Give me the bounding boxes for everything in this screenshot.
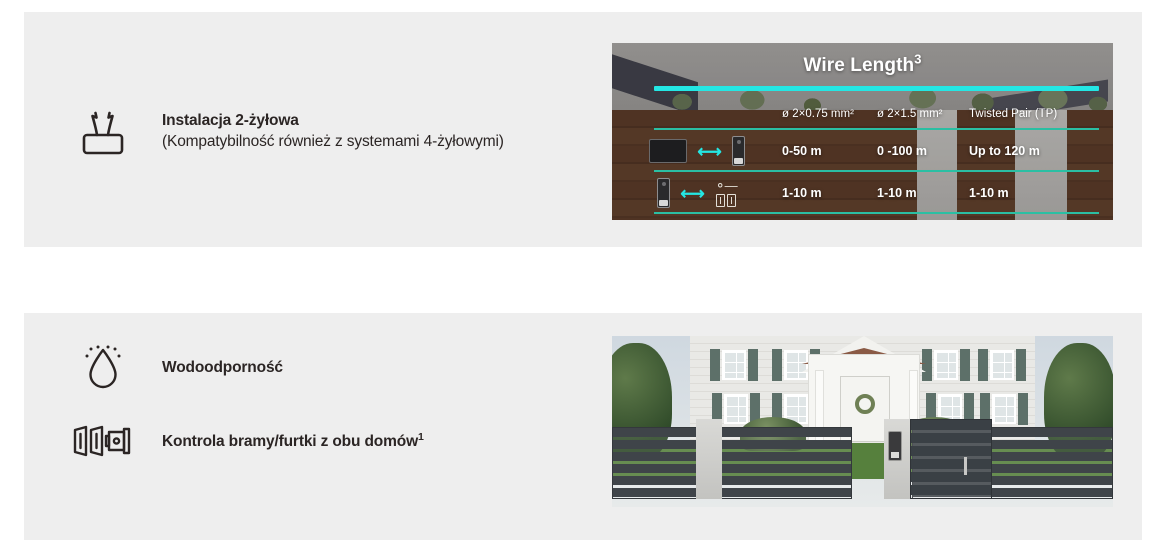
feature-title: Instalacja 2-żyłowa [162, 110, 504, 131]
feature-title: Wodoodporność [162, 357, 283, 378]
gate-key-icon: ⚬— [715, 179, 737, 207]
photo-shutter [1018, 393, 1028, 425]
cell-value: Up to 120 m [969, 144, 1099, 158]
table-row: ⟷ 0-50 m 0 -100 m Up to 120 m [612, 133, 1113, 169]
photo-shutter [1016, 349, 1026, 381]
photo-shutter [922, 349, 932, 381]
feature-subtitle: (Kompatybilność również z systemami 4-ży… [162, 131, 504, 152]
wire-length-figure: Wire Length3 ø 2×0.75 mm² ø 2×1.5 mm² Tw… [612, 43, 1113, 220]
photo-pillar [696, 419, 722, 499]
key-icon: ⚬— [715, 179, 737, 192]
feature-text: Wodoodporność [162, 357, 283, 378]
cell-value: 0 -100 m [877, 144, 969, 158]
cell-value: 1-10 m [969, 186, 1099, 200]
column-header-1: ø 2×0.75 mm² [782, 108, 877, 120]
photo-wreath [855, 394, 875, 414]
double-arrow-icon: ⟷ [697, 143, 721, 160]
table-header-row: ø 2×0.75 mm² ø 2×1.5 mm² Twisted Pair (T… [612, 102, 1113, 126]
feature-title: Kontrola bramy/furtki z obu domów1 [162, 431, 424, 452]
cell-value: 1-10 m [877, 186, 969, 200]
house-gate-figure [612, 336, 1113, 507]
feature-gate-control: Kontrola bramy/furtki z obu domów1 [72, 410, 424, 472]
photo-window [934, 350, 958, 380]
row-icons-2: ⟷ ⚬— [612, 178, 782, 208]
photo-window [724, 394, 748, 424]
water-drop-icon [72, 336, 134, 398]
door-station-icon [657, 178, 670, 208]
photo-gate-panel [910, 419, 992, 499]
column-header-2: ø 2×1.5 mm² [877, 108, 969, 120]
table-row: ⟷ ⚬— 1-10 m 1-10 m 1-10 m [612, 175, 1113, 211]
feature-text: Kontrola bramy/furtki z obu domów1 [162, 431, 424, 452]
indoor-monitor-icon [649, 139, 687, 163]
cell-value: 1-10 m [782, 186, 877, 200]
photo-gate-handle [964, 457, 967, 475]
column-header-3: Twisted Pair (TP) [969, 108, 1099, 120]
photo-window [992, 394, 1016, 424]
gate-control-icon [72, 410, 134, 472]
wire-length-table: ø 2×0.75 mm² ø 2×1.5 mm² Twisted Pair (T… [612, 43, 1113, 220]
photo-door-station [888, 431, 902, 461]
photo-window [990, 350, 1014, 380]
feature-waterproof: Wodoodporność [72, 336, 283, 398]
photo-fence-left [612, 427, 852, 499]
photo-shutter [748, 349, 758, 381]
photo-shutter [710, 349, 720, 381]
feature-title-text: Kontrola bramy/furtki z obu domów [162, 433, 418, 450]
row-icons-1: ⟷ [612, 136, 782, 166]
gate-icon [716, 194, 736, 207]
page-root: Instalacja 2-żyłowa (Kompatybilność równ… [0, 0, 1160, 552]
photo-shutter [772, 349, 782, 381]
two-wire-icon [72, 100, 134, 162]
photo-window [784, 350, 808, 380]
cell-value: 0-50 m [782, 144, 877, 158]
door-station-icon [732, 136, 745, 166]
double-arrow-icon: ⟷ [680, 185, 704, 202]
feature-two-wire-installation: Instalacja 2-żyłowa (Kompatybilność równ… [72, 100, 504, 162]
photo-shutter [978, 349, 988, 381]
photo-window [722, 350, 746, 380]
feature-text: Instalacja 2-żyłowa (Kompatybilność równ… [162, 110, 504, 152]
photo-shutter [960, 349, 970, 381]
feature-title-superscript: 1 [418, 430, 424, 442]
